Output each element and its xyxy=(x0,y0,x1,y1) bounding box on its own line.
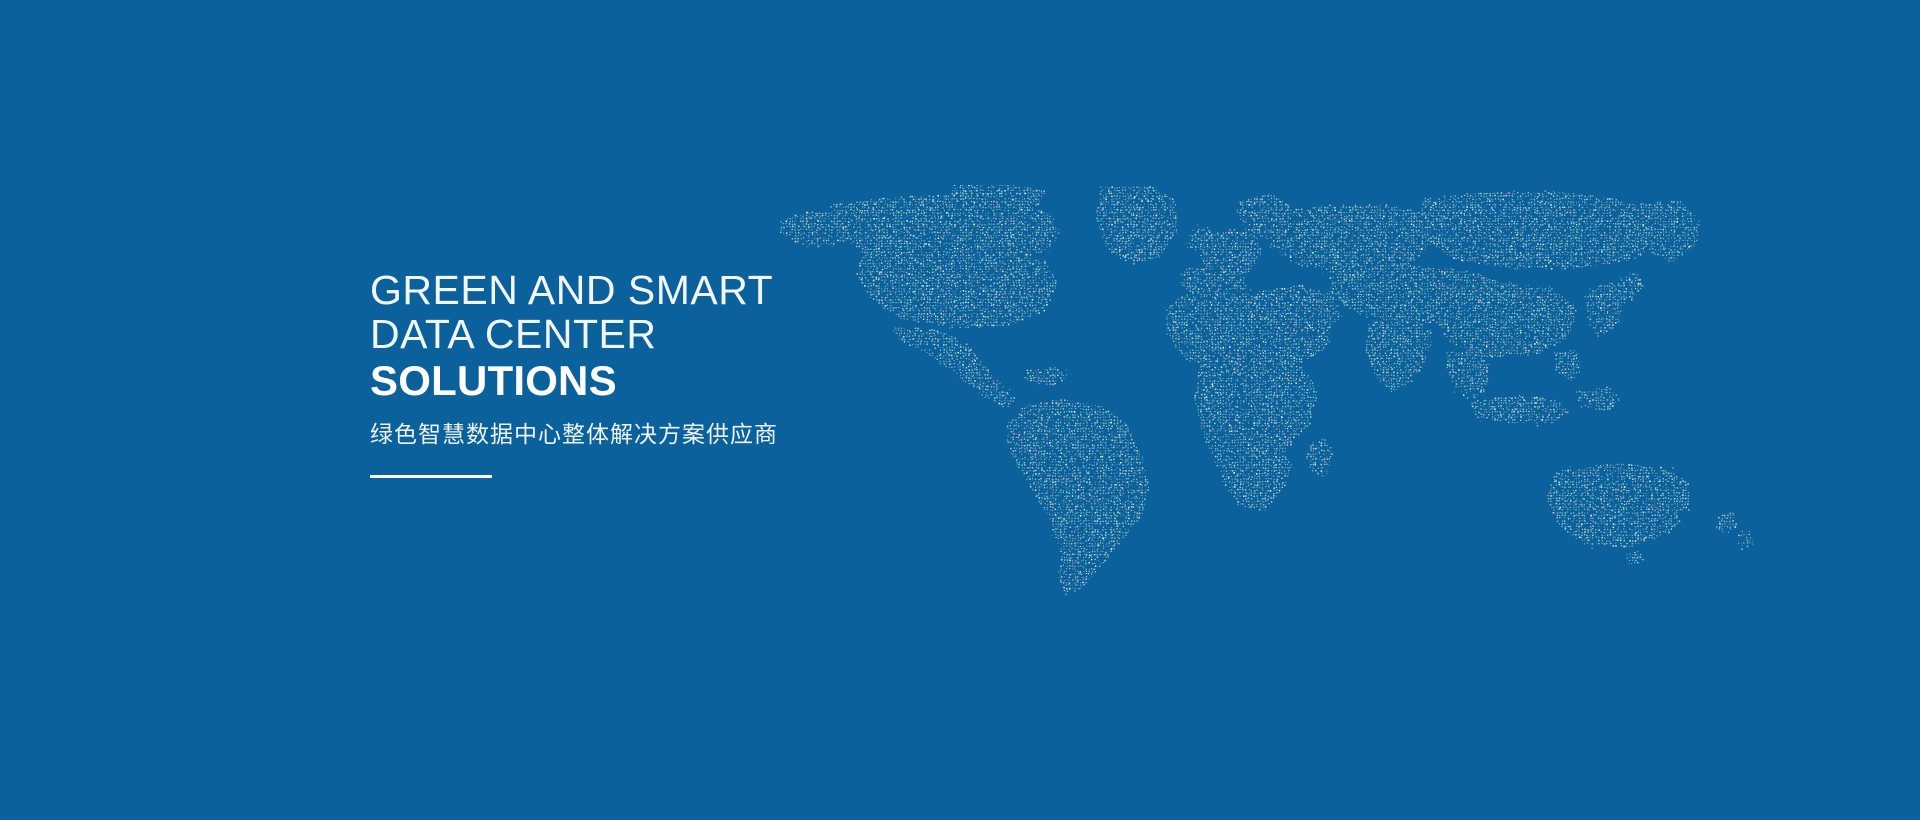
accent-rule xyxy=(370,475,492,478)
headline-line-3: SOLUTIONS xyxy=(370,357,990,405)
headline-line-2: DATA CENTER xyxy=(370,312,990,356)
headline-line-1: GREEN AND SMART xyxy=(370,268,990,312)
hero-copy: GREEN AND SMART DATA CENTER SOLUTIONS 绿色… xyxy=(370,268,990,478)
hero-banner: GREEN AND SMART DATA CENTER SOLUTIONS 绿色… xyxy=(0,0,1920,820)
page-title: GREEN AND SMART DATA CENTER SOLUTIONS xyxy=(370,268,990,405)
subheadline: 绿色智慧数据中心整体解决方案供应商 xyxy=(370,419,990,449)
